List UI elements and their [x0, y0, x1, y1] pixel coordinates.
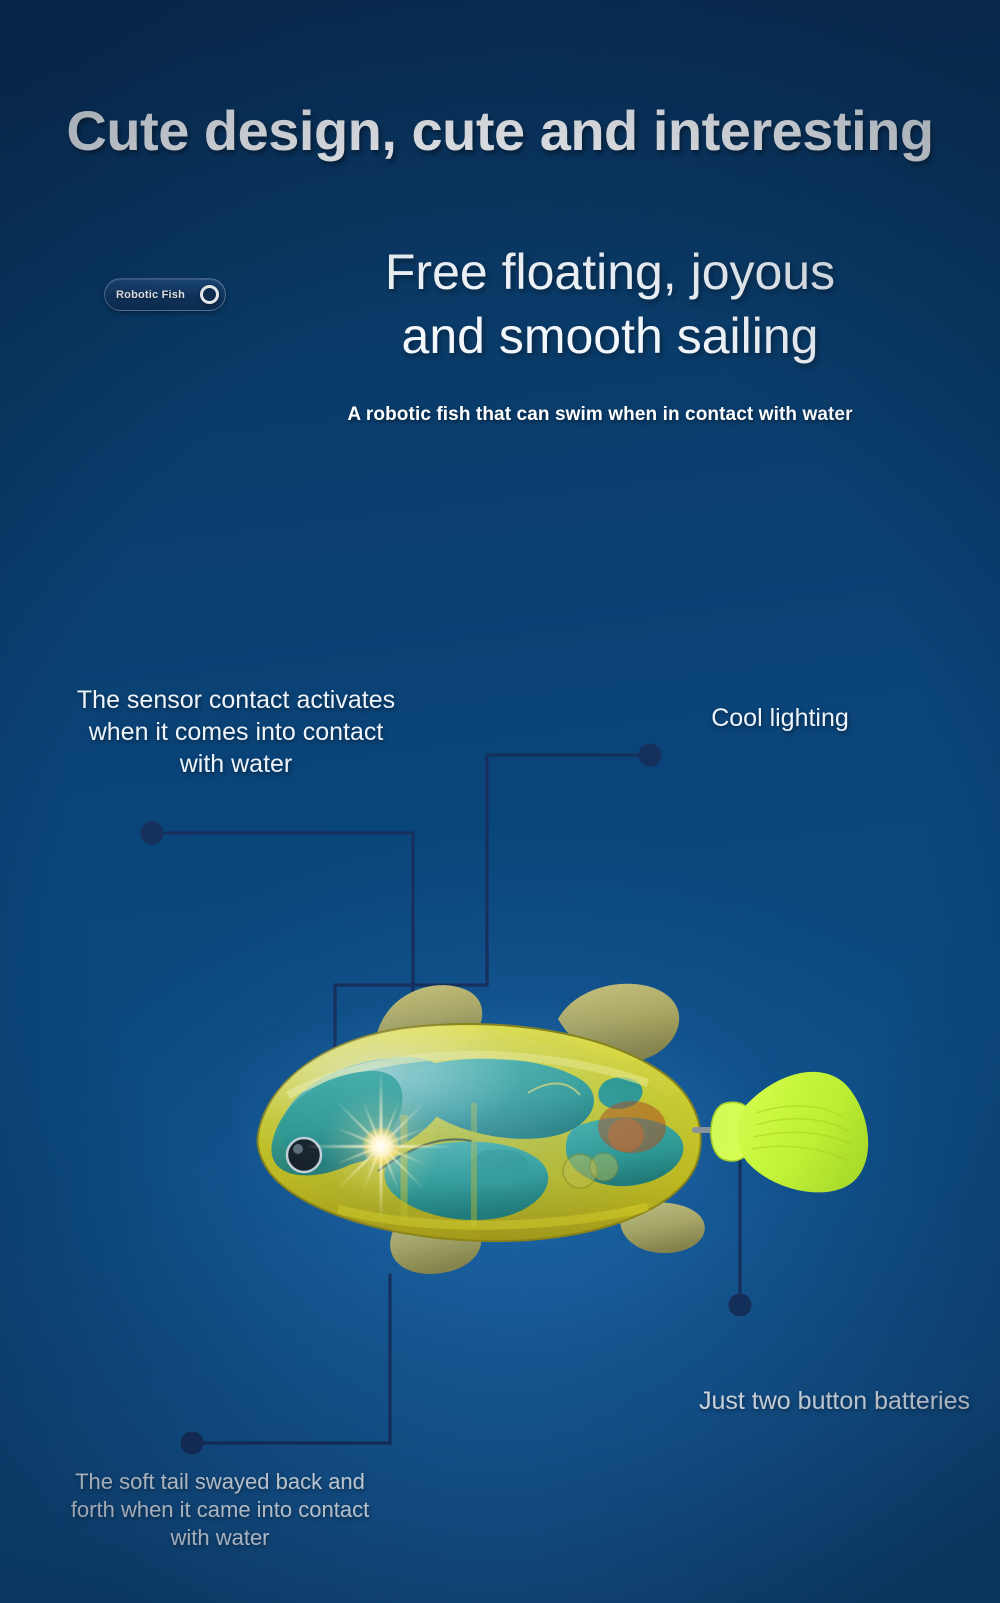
- connector-tail: [192, 1275, 390, 1443]
- robotic-fish-product-image: [228, 975, 878, 1275]
- product-infographic: Cute design, cute and interesting Roboti…: [0, 0, 1000, 1603]
- connector-dot-battery: [729, 1294, 752, 1317]
- connector-dot-sensor: [141, 822, 164, 845]
- callout-connectors: [0, 0, 1000, 1603]
- connector-dot-tail: [181, 1432, 204, 1455]
- product-glow: [238, 995, 758, 1255]
- connector-dot-lighting: [639, 744, 662, 767]
